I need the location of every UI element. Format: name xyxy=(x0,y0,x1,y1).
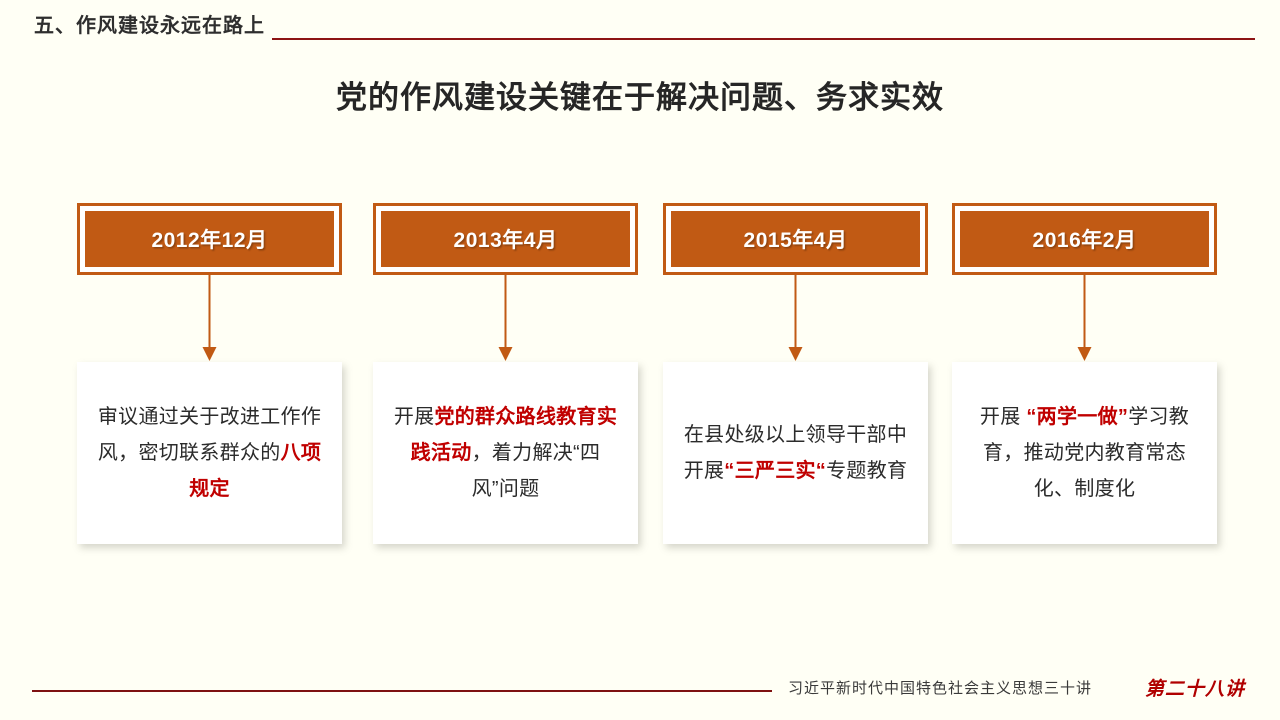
timeline-item-1: 2012年12月 审议通过关于改进工作作风，密切联系群众的八项规定 xyxy=(77,0,342,720)
connector-arrow-1 xyxy=(77,275,342,361)
info-card-text-highlight: “三严三实“ xyxy=(724,460,826,482)
date-badge-label: 2013年4月 xyxy=(454,224,558,254)
footer-course-title: 习近平新时代中国特色社会主义思想三十讲 xyxy=(788,677,1092,698)
slide-footer: 习近平新时代中国特色社会主义思想三十讲 第二十八讲 xyxy=(0,672,1280,720)
date-badge-label: 2015年4月 xyxy=(744,224,848,254)
date-badge-1[interactable]: 2012年12月 xyxy=(77,203,342,275)
info-card-3[interactable]: 在县处级以上领导干部中开展“三严三实“专题教育 xyxy=(663,362,928,544)
connector-arrow-4 xyxy=(952,275,1217,361)
info-card-4[interactable]: 开展 “两学一做”学习教育，推动党内教育常态化、制度化 xyxy=(952,362,1217,544)
info-card-2[interactable]: 开展党的群众路线教育实践活动，着力解决“四风”问题 xyxy=(373,362,638,544)
timeline-diagram: 2012年12月 审议通过关于改进工作作风，密切联系群众的八项规定 2013年4… xyxy=(0,0,1280,720)
date-badge-fill: 2015年4月 xyxy=(671,211,920,267)
info-card-text-plain-a: 开展 xyxy=(980,406,1026,428)
info-card-text-plain-a: 开展 xyxy=(394,406,435,428)
info-card-text-1: 审议通过关于改进工作作风，密切联系群众的八项规定 xyxy=(91,399,328,507)
timeline-item-4: 2016年2月 开展 “两学一做”学习教育，推动党内教育常态化、制度化 xyxy=(952,0,1217,720)
timeline-item-3: 2015年4月 在县处级以上领导干部中开展“三严三实“专题教育 xyxy=(663,0,928,720)
date-badge-fill: 2013年4月 xyxy=(381,211,630,267)
info-card-1[interactable]: 审议通过关于改进工作作风，密切联系群众的八项规定 xyxy=(77,362,342,544)
date-badge-2[interactable]: 2013年4月 xyxy=(373,203,638,275)
footer-lecture-number: 第二十八讲 xyxy=(1145,674,1245,701)
info-card-text-2: 开展党的群众路线教育实践活动，着力解决“四风”问题 xyxy=(387,399,624,507)
info-card-text-plain-b: 专题教育 xyxy=(826,460,907,482)
date-badge-3[interactable]: 2015年4月 xyxy=(663,203,928,275)
connector-arrow-3 xyxy=(663,275,928,361)
date-badge-label: 2016年2月 xyxy=(1033,224,1137,254)
info-card-text-3: 在县处级以上领导干部中开展“三严三实“专题教育 xyxy=(677,417,914,489)
date-badge-4[interactable]: 2016年2月 xyxy=(952,203,1217,275)
info-card-text-plain-b: ，着力解决“四风”问题 xyxy=(472,442,601,500)
footer-divider-line xyxy=(32,690,772,692)
connector-arrow-2 xyxy=(373,275,638,361)
info-card-text-highlight: “两学一做” xyxy=(1026,406,1128,428)
date-badge-fill: 2016年2月 xyxy=(960,211,1209,267)
date-badge-label: 2012年12月 xyxy=(151,224,267,254)
date-badge-fill: 2012年12月 xyxy=(85,211,334,267)
info-card-text-4: 开展 “两学一做”学习教育，推动党内教育常态化、制度化 xyxy=(966,399,1203,507)
timeline-item-2: 2013年4月 开展党的群众路线教育实践活动，着力解决“四风”问题 xyxy=(373,0,638,720)
